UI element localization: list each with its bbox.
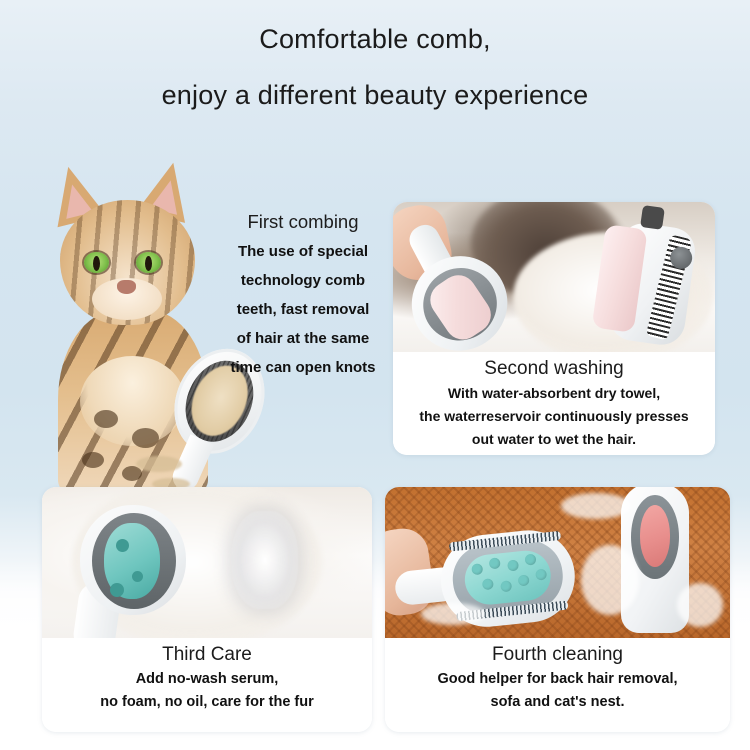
- pink-silicone-pad: [640, 505, 670, 567]
- panel-second-washing-caption: Second washing With water-absorbent dry …: [393, 352, 715, 455]
- loose-hair: [421, 603, 485, 625]
- panel-line: no foam, no oil, care for the fur: [48, 691, 366, 714]
- panel-third-care: Third Care Add no-wash serum, no foam, n…: [42, 487, 372, 732]
- panel-title: Third Care: [48, 642, 366, 668]
- panel-fourth-cleaning-caption: Fourth cleaning Good helper for back hai…: [385, 638, 730, 732]
- panel-line: the waterreservoir continuously presses: [399, 405, 709, 428]
- removed-hair-clump: [232, 511, 298, 609]
- poster-headline: Comfortable comb, enjoy a different beau…: [0, 22, 750, 112]
- panel-fourth-cleaning: Fourth cleaning Good helper for back hai…: [385, 487, 730, 732]
- headline-line-1: Comfortable comb,: [0, 22, 750, 56]
- panel-title: Second washing: [399, 356, 709, 382]
- panel-title: First combing: [222, 207, 384, 237]
- cat-spot: [94, 410, 118, 428]
- cat-nose: [117, 280, 136, 294]
- loose-hair: [581, 545, 639, 615]
- panel-line: time can open knots: [222, 353, 384, 382]
- panel-line: sofa and cat's nest.: [391, 691, 724, 714]
- product-infographic-poster: Comfortable comb, enjoy a different beau…: [0, 0, 750, 750]
- panel-line: of hair at the same: [222, 324, 384, 353]
- fur-wisp: [136, 456, 182, 472]
- panel-line: With water-absorbent dry towel,: [399, 382, 709, 405]
- cleaning-brush: [391, 526, 580, 636]
- applicator-nub: [116, 539, 129, 552]
- panel-line: The use of special: [222, 237, 384, 266]
- panel-third-care-caption: Third Care Add no-wash serum, no foam, n…: [42, 638, 372, 732]
- panel-title: Fourth cleaning: [391, 642, 724, 668]
- applicator-nub: [132, 571, 143, 582]
- panel-line: out water to wet the hair.: [399, 428, 709, 451]
- applicator-nub: [110, 583, 124, 597]
- panel-line: Add no-wash serum,: [48, 668, 366, 691]
- panel-line: Good helper for back hair removal,: [391, 668, 724, 691]
- loose-hair: [561, 493, 631, 519]
- panel-second-washing-image: [393, 202, 715, 352]
- cat-spot: [82, 452, 104, 468]
- second-comb-tool: [580, 202, 710, 352]
- cat-pupil-left: [93, 256, 100, 271]
- cat-pupil-right: [145, 256, 152, 271]
- panel-line: technology comb: [222, 266, 384, 295]
- loose-hair: [677, 583, 723, 627]
- headline-line-2: enjoy a different beauty experience: [0, 78, 750, 112]
- panel-third-care-image: [42, 487, 372, 638]
- panel-second-washing: Second washing With water-absorbent dry …: [393, 202, 715, 455]
- panel-line: teeth, fast removal: [222, 295, 384, 324]
- panel-first-combing-caption: First combing The use of special technol…: [222, 207, 384, 382]
- tool-clip: [640, 205, 665, 230]
- panel-fourth-cleaning-image: [385, 487, 730, 638]
